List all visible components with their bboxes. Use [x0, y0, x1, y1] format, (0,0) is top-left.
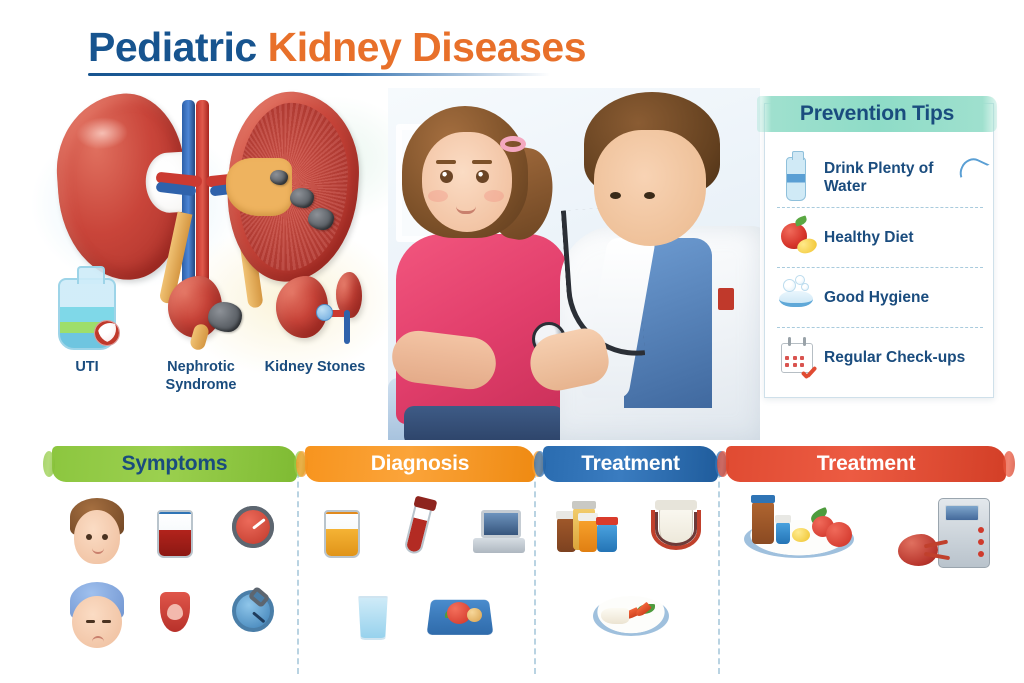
- doctor-pocket-badge: [718, 288, 734, 310]
- section-divider: [297, 462, 299, 674]
- symptoms-icon-grid: [52, 496, 297, 654]
- prevention-tips-title: Prevention Tips: [800, 102, 954, 126]
- medicine-fruit-plate-icon[interactable]: [728, 496, 878, 570]
- obstruction-marker-icon: [316, 304, 333, 321]
- dialysis-bag-icon[interactable]: [645, 496, 707, 570]
- title-part-accent: Kidney Diseases: [268, 24, 586, 70]
- tip-item-checkups[interactable]: Regular Check-ups: [777, 328, 983, 388]
- prevention-tips-list: Drink Plenty of Water Healthy Diet Good …: [765, 144, 993, 389]
- condition-label: Nephrotic Syndrome: [146, 358, 256, 394]
- condition-label: UTI: [32, 358, 142, 376]
- bottom-sections: Symptoms: [0, 446, 1024, 683]
- section-diagnosis: Diagnosis: [305, 446, 535, 683]
- doctor-child-illustration: [388, 88, 760, 440]
- tip-item-hygiene[interactable]: Good Hygiene: [777, 268, 983, 328]
- child-eye-left: [440, 170, 453, 183]
- infographic-page: Pediatric Kidney Diseases UTI N: [0, 0, 1024, 683]
- prevention-tips-panel: Prevention Tips Drink Plenty of Water He…: [764, 103, 994, 398]
- ultrasound-machine-icon[interactable]: [467, 496, 529, 570]
- medicine-bottles-icon[interactable]: [555, 496, 629, 570]
- urine-sample-cup-icon[interactable]: [311, 496, 373, 570]
- water-swirl-icon: [955, 154, 989, 190]
- child-shorts: [404, 406, 564, 440]
- child-eye-right: [476, 170, 489, 183]
- section-treatment-red: Treatment: [726, 446, 1006, 683]
- kidney-stone-icon: [270, 170, 288, 185]
- blood-test-tube-icon[interactable]: [389, 496, 451, 570]
- diet-plate-icon[interactable]: [581, 580, 681, 654]
- kidney-stone-icon: [308, 208, 334, 230]
- child-eyebrow-right: [472, 160, 492, 164]
- water-bottle-icon: [777, 155, 815, 201]
- hair-tie-icon: [500, 136, 526, 152]
- tip-label: Healthy Diet: [824, 229, 914, 246]
- doctor-eye-left: [610, 192, 621, 199]
- title-part-primary: Pediatric: [88, 24, 268, 70]
- section-treatment-blue: Treatment: [543, 446, 718, 683]
- tip-label: Drink Plenty of Water: [824, 160, 949, 195]
- kidney-dialysis-machine-icon[interactable]: [894, 496, 1004, 570]
- child-cheek-right: [484, 190, 504, 202]
- calendar-check-icon: [777, 335, 815, 381]
- renal-pelvis-icon: [226, 158, 292, 216]
- heart-shield-icon[interactable]: [144, 580, 206, 654]
- water-glass-icon[interactable]: [341, 580, 403, 654]
- blue-gauge-icon[interactable]: [222, 580, 284, 654]
- prevention-tips-header: Prevention Tips: [757, 96, 997, 132]
- section-title-diagnosis: Diagnosis: [305, 446, 535, 482]
- section-title-treatment-blue: Treatment: [543, 446, 718, 482]
- child-eyebrow-left: [436, 160, 456, 164]
- blood-sample-jar-icon[interactable]: [144, 496, 206, 570]
- tip-item-diet[interactable]: Healthy Diet: [777, 208, 983, 268]
- tip-item-water[interactable]: Drink Plenty of Water: [777, 148, 983, 208]
- diagnosis-icon-grid: [305, 496, 535, 654]
- child-face: [422, 132, 512, 232]
- kidney-stone-icon: [290, 188, 314, 208]
- condition-list: UTI Nephrotic Syndrome Kidney Stones: [28, 262, 388, 384]
- red-gauge-icon[interactable]: [222, 496, 284, 570]
- page-title: Pediatric Kidney Diseases: [88, 24, 586, 76]
- section-symptoms: Symptoms: [52, 446, 297, 683]
- flask-bacteria-icon: [58, 278, 116, 350]
- treatment-red-icon-grid: [726, 496, 1006, 570]
- doctor-eye-right: [644, 192, 655, 199]
- stone-icon: [208, 302, 242, 332]
- condition-label: Kidney Stones: [260, 358, 370, 376]
- vein-icon: [344, 310, 350, 344]
- apple-lemon-icon: [777, 215, 815, 261]
- title-underline: [88, 73, 550, 76]
- section-divider: [718, 462, 720, 674]
- section-title-treatment-red: Treatment: [726, 446, 1006, 482]
- food-scanner-icon[interactable]: [419, 580, 499, 654]
- section-title-symptoms: Symptoms: [52, 446, 297, 482]
- child-face-icon[interactable]: [66, 496, 128, 570]
- swollen-face-icon[interactable]: [66, 580, 128, 654]
- tip-label: Regular Check-ups: [824, 349, 965, 366]
- child-cheek-left: [428, 190, 448, 202]
- soap-bubbles-icon: [777, 275, 815, 321]
- tip-label: Good Hygiene: [824, 289, 929, 306]
- treatment-blue-icon-grid: [543, 496, 718, 654]
